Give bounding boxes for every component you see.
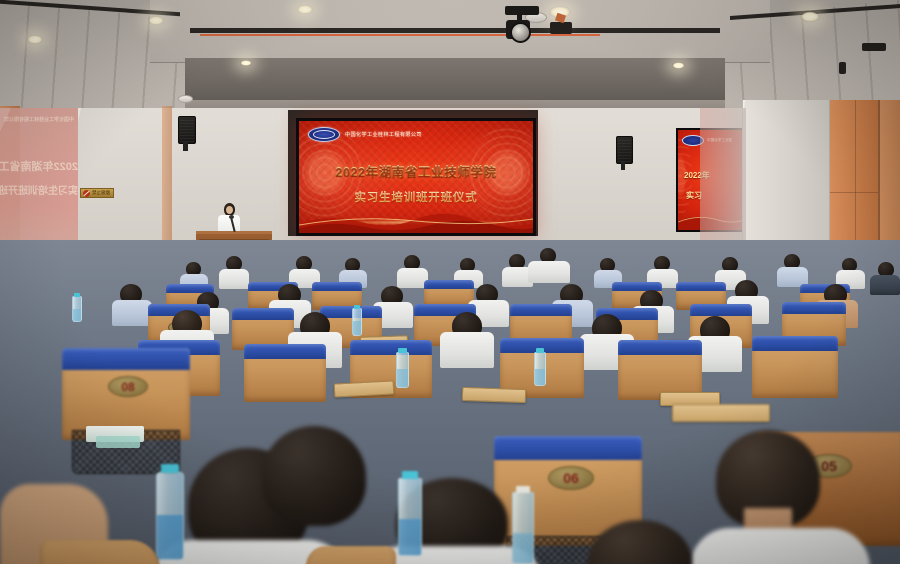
main-led-screen: 中国化学工业桂林工程有限公司 2022年湖南省工业技师学院 实习生培训班开班仪式 — [296, 118, 536, 236]
no-smoking-sign-left: 禁止吸烟 — [80, 188, 114, 198]
seat-cushion-top — [424, 280, 474, 289]
projector-mount — [505, 6, 539, 15]
bottle-cap — [161, 464, 179, 473]
reflection-corp-text: 中国化学工业桂林工程有限公司 — [0, 116, 78, 123]
microphone-head-icon — [229, 215, 234, 219]
led-screen-surface: 中国化学工业桂林工程有限公司 2022年湖南省工业技师学院 实习生培训班开班仪式 — [299, 121, 533, 233]
reflection-title-2: 实习生培训班开班仪式 — [0, 182, 78, 197]
seat-cushion-top — [494, 436, 642, 460]
seat-cushion-top — [320, 306, 382, 318]
seat-cushion-top — [618, 340, 702, 355]
audience-torso — [528, 261, 570, 283]
wall-speaker-left — [178, 116, 196, 144]
seat-cushion-top — [752, 336, 838, 351]
smoke-detector-2 — [178, 95, 193, 103]
bottle-water — [397, 369, 408, 387]
speaker-grille — [180, 118, 194, 142]
folder-green[interactable] — [96, 436, 140, 448]
foreground-torso-right — [690, 528, 870, 564]
seat-cushion-top — [676, 282, 726, 291]
wall-speaker-left-bracket — [183, 142, 188, 151]
seat-cushion-top — [312, 282, 362, 291]
track-light-2 — [862, 43, 886, 51]
bottle-water — [157, 515, 183, 559]
downlight-5 — [800, 11, 820, 22]
track-light-1 — [550, 22, 572, 34]
folding-desk-front[interactable] — [672, 404, 770, 422]
seat-cushion-top — [244, 344, 326, 359]
track-light-3 — [839, 62, 846, 74]
seat-back[interactable] — [244, 344, 326, 402]
downlight-1 — [27, 35, 43, 44]
seat-back[interactable] — [618, 340, 702, 400]
water-bottle[interactable] — [534, 352, 546, 386]
foreground-head-left-2 — [262, 426, 366, 526]
screen-title-line-2: 实习生培训班开班仪式 — [299, 189, 533, 205]
no-smoking-label: 禁止吸烟 — [92, 190, 110, 196]
water-bottle[interactable] — [396, 352, 409, 388]
water-bottle-foreground-3[interactable] — [512, 492, 534, 564]
downlight-2 — [148, 16, 164, 25]
seat-cushion-top — [510, 304, 572, 316]
bottle-cap — [402, 471, 418, 479]
projector-lens-icon — [510, 22, 531, 43]
seat-cushion-top — [690, 304, 752, 316]
audience-torso — [219, 269, 249, 289]
screen-logo-block: 中国化学工业桂林工程有限公司 — [308, 127, 422, 142]
water-bottle[interactable] — [352, 308, 362, 336]
bottle-water — [353, 321, 361, 335]
audience-seating-area: 08 — [0, 240, 900, 564]
water-bottle[interactable] — [72, 296, 82, 322]
water-bottle-foreground[interactable] — [156, 472, 184, 560]
seat-number-plate: 06 — [548, 466, 594, 490]
wall-speaker-right-bracket — [621, 162, 625, 170]
audience-torso — [440, 332, 494, 368]
downlight-7 — [240, 60, 252, 66]
armrest-foreground-center — [306, 546, 396, 564]
audience-torso — [870, 275, 900, 295]
seat-cushion-top — [350, 340, 432, 355]
seat-cushion-top — [62, 348, 190, 370]
bottle-cap — [398, 348, 407, 353]
seat-cushion-top — [232, 308, 294, 320]
seat-back[interactable] — [752, 336, 838, 398]
no-smoking-icon — [83, 190, 90, 197]
downlight-6 — [672, 62, 685, 69]
seat-number-plate: 08 — [108, 376, 148, 397]
ceiling-track-rail — [190, 28, 720, 33]
wall-panel-seam-h — [828, 192, 878, 193]
company-logo-icon — [308, 127, 340, 142]
company-logo-inner — [313, 130, 335, 139]
bottle-cap — [74, 293, 80, 297]
bottle-water — [535, 369, 545, 385]
screen-bottom-decoration — [299, 207, 533, 233]
reflection-title-1: 2022年湖南省工业技师学院 — [0, 158, 78, 174]
bottle-cap — [536, 348, 544, 353]
downlight-3 — [297, 5, 313, 14]
bottle-water — [513, 533, 533, 563]
ceiling-red-accent-line — [200, 34, 600, 36]
bottle-cap — [354, 305, 360, 309]
bottle-water — [399, 519, 421, 555]
screen-company-name: 中国化学工业桂林工程有限公司 — [345, 131, 422, 138]
screen-wave-graphic — [299, 207, 533, 233]
audience-torso — [112, 300, 152, 326]
bottle-water — [73, 309, 81, 321]
screen-title-line-1: 2022年湖南省工业技师学院 — [299, 161, 533, 180]
folding-desk[interactable] — [462, 387, 526, 403]
screen-title-block: 2022年湖南省工业技师学院 实习生培训班开班仪式 — [299, 161, 533, 205]
bottle-cap — [516, 486, 530, 493]
conference-hall-photo: 禁止吸烟 禁止吸烟 中国化学工业桂林工程有限公司 2022年湖南省工业技师学院 … — [0, 0, 900, 564]
water-bottle-foreground-2[interactable] — [398, 478, 422, 556]
wall-speaker-right — [616, 136, 633, 164]
speaker-face — [226, 206, 233, 214]
armrest-foreground-left — [40, 540, 160, 564]
speaker-grille-right — [618, 138, 631, 162]
seat-cushion-top — [782, 302, 846, 314]
